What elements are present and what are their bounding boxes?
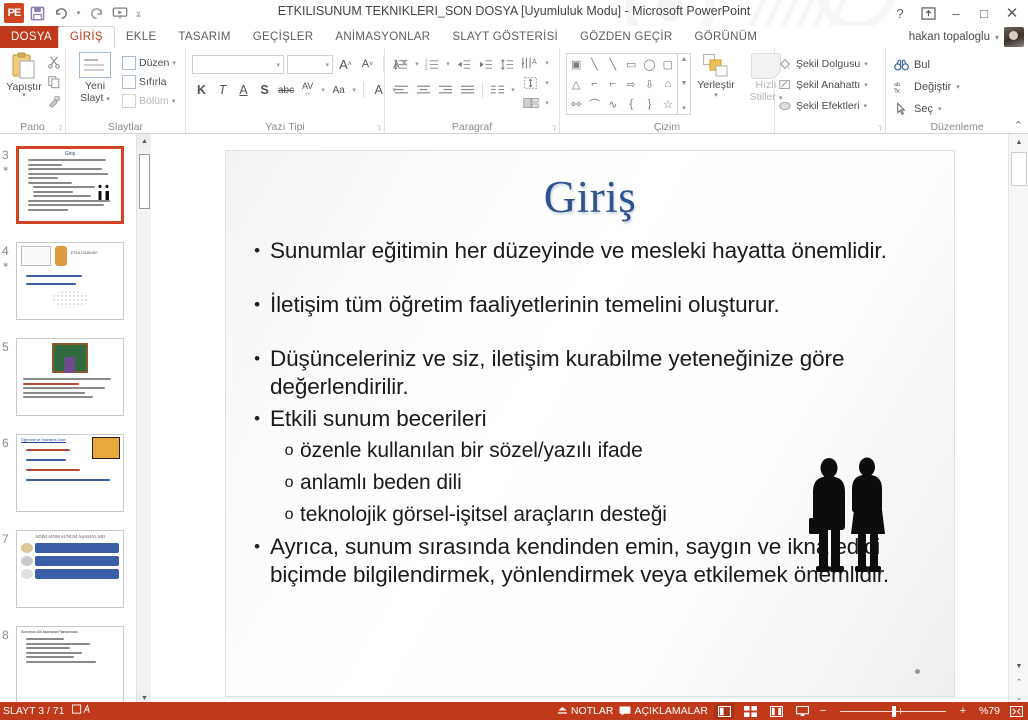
justify-button[interactable] <box>457 80 478 100</box>
slides-buttons: Düzen ▾ Sıfırla Bölüm ▾ <box>122 53 184 110</box>
new-slide-label-1: Yeni <box>85 80 105 92</box>
thumbnail-frame[interactable]: ADIM ADIM SUNUM AŞAMALARI <box>16 530 124 608</box>
shrink-font-button[interactable]: A˅ <box>358 54 377 74</box>
tab-gorunum[interactable]: GÖRÜNÜM <box>683 26 768 48</box>
thumbnail-number: 3 <box>2 148 9 162</box>
character-spacing-label: AV <box>302 82 313 90</box>
text-direction-button[interactable]: A <box>519 53 543 73</box>
slide-decoration-dot <box>915 669 920 674</box>
pencil-outline-icon <box>778 78 792 92</box>
chevron-down-icon[interactable]: ▾ <box>864 60 868 68</box>
shape-elbow2-icon[interactable]: ⌐ <box>604 74 622 94</box>
shape-freeform-icon[interactable]: ⚯ <box>567 94 585 114</box>
tab-dosya[interactable]: DOSYA <box>0 26 63 48</box>
bullet-marker: • <box>244 533 270 589</box>
svg-text:ab: ab <box>894 82 900 88</box>
gallery-more-icon[interactable]: ▾ <box>682 102 686 114</box>
thumbnail-frame[interactable]: Sunumun Altı Aşamada Planlanması <box>16 626 124 704</box>
zoom-slider[interactable] <box>834 704 952 718</box>
pointer-icon <box>894 102 909 116</box>
start-slideshow-icon[interactable] <box>109 2 131 24</box>
language-icon[interactable] <box>72 704 92 718</box>
shape-format-buttons: Şekil Dolgusu ▾ Şekil Anahattı ▾ Şekil E… <box>778 53 882 116</box>
font-dialog-launcher[interactable]: ⁊ <box>377 123 381 132</box>
font-row-top: ▾ ▾ A˄ A˅ A <box>192 54 411 74</box>
window-controls[interactable]: ? – □ ✕ <box>886 0 1026 26</box>
tab-list: GİRİŞ EKLE TASARIM GEÇİŞLER ANİMASYONLAR… <box>58 26 768 48</box>
spacer <box>244 269 928 291</box>
align-text-button[interactable] <box>519 73 543 93</box>
paste-button[interactable]: Yapıştır ▾ <box>4 52 44 114</box>
quick-styles-label-1: Hızlı <box>755 79 776 91</box>
scroll-down-icon[interactable]: ▼ <box>1009 658 1028 674</box>
fit-slide-to-window-button[interactable] <box>1006 703 1026 719</box>
powerpoint-logo-icon: PE <box>4 3 24 23</box>
ribbon-group-drawing: ▣ ╲ ╲ ▭ ◯ ▢ △ ⌐ ⌐ ⇨ ⇩ ⌂ ⚯ ⌒ ∿ { } ☆ ▲ <box>560 48 775 134</box>
bullet-marker: • <box>244 405 270 433</box>
shape-arrow-icon[interactable]: ╲ <box>604 54 622 74</box>
chevron-down-icon[interactable]: ▾ <box>172 97 176 105</box>
align-right-button[interactable] <box>435 80 456 100</box>
chevron-down-icon[interactable]: ▾ <box>956 83 960 91</box>
shape-effects-button[interactable]: Şekil Efektleri ▾ <box>778 95 882 116</box>
chevron-down-icon[interactable]: ▾ <box>543 79 551 87</box>
section-icon <box>122 94 136 108</box>
scrollbar-thumb[interactable] <box>1011 152 1027 186</box>
quick-access-toolbar[interactable]: PE ▾ ⩣ <box>4 2 144 24</box>
select-button[interactable]: Seç ▾ <box>894 98 1014 120</box>
decrease-indent-button[interactable] <box>453 54 474 74</box>
chevron-down-icon[interactable]: ▾ <box>938 105 942 113</box>
ribbon-group-slides: Yeni Slayt ▾ Düzen ▾ Sıfırla Bölüm <box>66 48 186 134</box>
close-button[interactable]: ✕ <box>998 2 1026 24</box>
svg-text:ac: ac <box>895 89 901 94</box>
thumbnail-title: ETKİLİ SUNUM? <box>71 251 97 255</box>
shape-rectangle-icon[interactable]: ▭ <box>622 54 640 74</box>
bold-button[interactable]: K <box>192 80 211 100</box>
scrollbar-thumb[interactable] <box>139 154 150 209</box>
thumbnail-number: 5 <box>2 340 9 354</box>
bullet-marker: o <box>278 501 300 529</box>
chevron-down-icon[interactable]: ▾ <box>864 102 868 110</box>
gallery-scroll-up-icon[interactable]: ▲ <box>681 54 688 65</box>
slide-thumbnail-pane[interactable]: 3 ✶ Giriş <box>0 134 136 706</box>
redo-icon[interactable] <box>85 2 107 24</box>
clipboard-dialog-launcher[interactable]: ⁊ <box>58 123 62 132</box>
bullet-text: Düşünceleriniz ve siz, iletişim kurabilm… <box>270 345 928 401</box>
powerpoint-window: PE ▾ ⩣ ETKILISUNUM TEKNIKLERI_SON DOSYA … <box>0 0 1028 720</box>
chevron-down-icon[interactable]: ▾ <box>864 81 868 89</box>
clipboard-icon <box>11 52 37 80</box>
shape-right-arrow-icon[interactable]: ⇨ <box>622 74 640 94</box>
shape-arc-icon[interactable]: ∿ <box>604 94 622 114</box>
bullet-text: Sunumlar eğitimin her düzeyinde ve mesle… <box>270 237 887 265</box>
comments-label: AÇIKLAMALAR <box>634 705 708 717</box>
chevron-down-icon[interactable]: ▾ <box>543 99 551 107</box>
smartart-button[interactable] <box>519 93 543 113</box>
shape-right-brace-icon[interactable]: } <box>640 94 658 114</box>
thumbnail-frame[interactable]: Giriş <box>16 146 124 224</box>
thumbnail-frame[interactable]: Öğrenme ve Hatırlama Oranı <box>16 434 124 512</box>
chevron-down-icon[interactable]: ▾ <box>106 96 110 103</box>
chevron-down-icon[interactable]: ▾ <box>413 60 421 68</box>
group-label-slides: Slaytlar <box>66 121 185 133</box>
shape-oval-icon[interactable]: ◯ <box>640 54 658 74</box>
shape-rounded-rect-icon[interactable]: ▢ <box>659 54 677 74</box>
thumbnail-content: Öğrenme ve Hatırlama Oranı <box>17 435 123 511</box>
shape-textbox-icon[interactable]: ▣ <box>567 54 585 74</box>
paragraph-right-buttons: A ▾ ▾ ▾ <box>519 53 553 113</box>
bullets-button[interactable] <box>391 54 412 74</box>
shapes-gallery[interactable]: ▣ ╲ ╲ ▭ ◯ ▢ △ ⌐ ⌐ ⇨ ⇩ ⌂ ⚯ ⌒ ∿ { } ☆ <box>566 53 678 115</box>
thumbnail-number: 7 <box>2 532 9 546</box>
layout-button[interactable]: Düzen ▾ <box>122 53 184 72</box>
svg-text:3: 3 <box>425 66 428 71</box>
bullet-item[interactable]: • İletişim tüm öğretim faaliyetlerinin t… <box>244 291 928 319</box>
undo-icon[interactable] <box>50 2 72 24</box>
zoom-tick <box>900 708 901 714</box>
chevron-down-icon[interactable]: ▾ <box>22 93 26 99</box>
chevron-down-icon[interactable]: ▾ <box>350 86 358 94</box>
tab-tasarim[interactable]: TASARIM <box>167 26 241 48</box>
format-painter-button[interactable] <box>44 92 64 112</box>
group-label-paragraph: Paragraf <box>385 121 559 133</box>
section-button[interactable]: Bölüm ▾ <box>122 91 184 110</box>
thumbnail-title: ADIM ADIM SUNUM AŞAMALARI <box>21 534 119 540</box>
find-button[interactable]: Bul <box>894 54 1014 76</box>
paragraph-row-top: ▾ 123 ▾ ▾ <box>391 54 527 74</box>
bullet-item[interactable]: • Etkili sunum becerileri <box>244 405 928 433</box>
shape-curve-icon[interactable]: ⌒ <box>585 94 603 114</box>
chevron-down-icon[interactable]: ▾ <box>172 59 176 67</box>
spacer <box>244 323 928 345</box>
thumbnail-number: 4 <box>2 244 9 258</box>
ribbon-group-clipboard: Yapıştır ▾ Pano ⁊ <box>0 48 66 134</box>
font-row-bottom: K T A S abc AV↔ ▾ Aa ▾ A ▾ <box>192 80 398 100</box>
thumbnail-title: Sunumun Altı Aşamada Planlanması <box>21 630 119 634</box>
avatar[interactable] <box>1004 27 1024 47</box>
group-label-editing: Düzenleme <box>886 121 1028 133</box>
text-shadow-button[interactable]: S <box>255 80 274 100</box>
clipboard-small-buttons <box>44 52 64 112</box>
increase-indent-button[interactable] <box>475 54 496 74</box>
thumbnail-content <box>17 339 123 415</box>
align-left-button[interactable] <box>391 80 412 100</box>
ribbon: Yapıştır ▾ Pano ⁊ Yen <box>0 48 1028 134</box>
copy-button[interactable] <box>44 72 64 92</box>
save-icon[interactable] <box>26 2 48 24</box>
replace-label: Değiştir <box>914 81 951 93</box>
shape-fill-label: Şekil Dolgusu <box>796 58 860 70</box>
zoom-in-button[interactable]: + <box>958 705 968 717</box>
tab-giris[interactable]: GİRİŞ <box>58 26 115 48</box>
quick-styles-label-2: Stiller <box>750 91 776 103</box>
bullet-marker: • <box>244 291 270 319</box>
title-bar: PE ▾ ⩣ ETKILISUNUM TEKNIKLERI_SON DOSYA … <box>0 0 1028 26</box>
divider <box>363 82 364 98</box>
chevron-down-icon[interactable]: ▾ <box>543 59 551 67</box>
account-area[interactable]: hakan topaloglu ▾ <box>909 27 1024 47</box>
svg-text:A: A <box>532 57 537 66</box>
zoom-out-button[interactable]: − <box>818 705 828 717</box>
shape-outline-button[interactable]: Şekil Anahattı ▾ <box>778 74 882 95</box>
animation-star-icon: ✶ <box>2 260 10 271</box>
notes-label: NOTLAR <box>571 705 614 717</box>
bullet-marker: • <box>244 345 270 401</box>
divider <box>383 56 384 72</box>
bullet-marker: o <box>278 469 300 497</box>
replace-icon: abac <box>894 80 909 94</box>
layout-icon <box>122 56 136 70</box>
shape-line-icon[interactable]: ╲ <box>585 54 603 74</box>
bullet-item[interactable]: • Düşünceleriniz ve siz, iletişim kurabi… <box>244 345 928 401</box>
shape-fill-button[interactable]: Şekil Dolgusu ▾ <box>778 53 882 74</box>
thumbnail-title: Giriş <box>23 152 117 156</box>
bullet-text: özenle kullanılan bir sözel/yazılı ifade <box>300 437 643 465</box>
reset-button[interactable]: Sıfırla <box>122 72 184 91</box>
comments-button[interactable]: AÇIKLAMALAR <box>619 705 708 717</box>
shapes-gallery-scrollbar[interactable]: ▲ ▼ ▾ <box>678 53 691 115</box>
strikethrough-button[interactable]: abc <box>276 80 296 100</box>
divider <box>482 82 483 98</box>
chevron-down-icon[interactable]: ▾ <box>444 60 452 68</box>
shape-elbow-icon[interactable]: ⌐ <box>585 74 603 94</box>
thumbnail-frame[interactable]: ETKİLİ SUNUM? <box>16 242 124 320</box>
bullet-item[interactable]: • Sunumlar eğitimin her düzeyinde ve mes… <box>244 237 928 265</box>
maximize-button[interactable]: □ <box>970 2 998 24</box>
align-center-button[interactable] <box>413 80 434 100</box>
grow-font-button[interactable]: A˄ <box>336 54 355 74</box>
fill-bucket-icon <box>778 57 792 71</box>
ribbon-group-font: ▾ ▾ A˄ A˅ A K T A S abc AV↔ ▾ Aa <box>186 48 385 134</box>
group-label-font: Yazı Tipi <box>186 121 384 133</box>
thumbnail-number: 6 <box>2 436 9 450</box>
ribbon-display-options-button[interactable] <box>914 2 942 24</box>
normal-view-button[interactable] <box>714 703 734 719</box>
shape-triangle-icon[interactable]: △ <box>567 74 585 94</box>
paragraph-row-bottom: ▾ <box>391 80 517 100</box>
chevron-down-icon[interactable]: ▾ <box>509 86 517 94</box>
section-label: Bölüm <box>139 95 169 107</box>
arrange-label: Yerleştir <box>697 79 735 91</box>
previous-slide-button[interactable]: ⌃ <box>1009 674 1028 690</box>
underline-button[interactable]: A <box>234 80 253 100</box>
two-people-silhouette-image <box>97 183 113 205</box>
shape-star-icon[interactable]: ☆ <box>659 94 677 114</box>
thumbnail-frame[interactable] <box>16 338 124 416</box>
tab-ekle[interactable]: EKLE <box>115 26 168 48</box>
zoom-handle[interactable] <box>892 706 896 717</box>
animation-star-icon: ✶ <box>2 164 10 175</box>
new-slide-label-2: Slayt <box>80 92 103 104</box>
minimize-button[interactable]: – <box>942 2 970 24</box>
effects-icon <box>778 99 792 113</box>
shape-down-arrow-icon[interactable]: ⇩ <box>640 74 658 94</box>
thumbnail-number: 8 <box>2 628 9 642</box>
change-case-button[interactable]: Aa <box>329 80 348 100</box>
thumbnail-content: ADIM ADIM SUNUM AŞAMALARI <box>17 531 123 607</box>
arrange-button[interactable]: Yerleştir ▾ <box>694 53 738 99</box>
slide-title[interactable]: Giriş <box>226 171 954 223</box>
scrollbar-bottom-buttons[interactable]: ▼ ⌃ ⌄ <box>1009 658 1028 706</box>
chevron-down-icon[interactable]: ▾ <box>319 86 327 94</box>
undo-dropdown-icon[interactable]: ▾ <box>74 2 83 24</box>
arrange-icon <box>702 53 730 79</box>
character-spacing-button[interactable]: AV↔ <box>298 80 317 100</box>
zoom-value[interactable]: %79 <box>974 705 1000 717</box>
font-name-input[interactable]: ▾ <box>192 55 284 74</box>
binoculars-icon <box>894 58 909 72</box>
bullet-text: teknolojik görsel-işitsel araçların dest… <box>300 501 667 529</box>
bullet-marker: o <box>278 437 300 465</box>
reading-view-button[interactable] <box>766 703 786 719</box>
line-spacing-button[interactable] <box>497 54 518 74</box>
bullet-marker: • <box>244 237 270 265</box>
chevron-down-icon[interactable]: ▾ <box>995 33 999 42</box>
shape-effects-label: Şekil Efektleri <box>796 100 860 112</box>
help-button[interactable]: ? <box>886 2 914 24</box>
replace-button[interactable]: abac Değiştir ▾ <box>894 76 1014 98</box>
bullet-text: Etkili sunum becerileri <box>270 405 487 433</box>
bullet-text: anlamlı beden dili <box>300 469 462 497</box>
logo-text: PE <box>8 7 21 19</box>
new-slide-button[interactable]: Yeni Slayt ▾ <box>72 52 118 106</box>
paragraph-dialog-launcher[interactable]: ⁊ <box>552 123 556 132</box>
tab-gozden-gecir[interactable]: GÖZDEN GEÇİR <box>569 26 683 48</box>
comment-icon <box>619 706 631 716</box>
new-slide-icon <box>79 52 111 78</box>
shape-pentagon-icon[interactable]: ⌂ <box>659 74 677 94</box>
font-size-input[interactable]: ▾ <box>287 55 333 74</box>
numbering-button[interactable]: 123 <box>422 54 443 74</box>
ribbon-group-editing: Bul abac Değiştir ▾ Seç ▾ Düzenleme ⌃ <box>886 48 1028 134</box>
title-bar-decoration <box>588 0 908 26</box>
chevron-down-icon[interactable]: ▾ <box>714 91 718 99</box>
thumbnail-scrollbar[interactable]: ▲ ▼ <box>136 134 151 706</box>
window-title: ETKILISUNUM TEKNIKLERI_SON DOSYA [Uyumlu… <box>0 4 1028 18</box>
shape-outline-label: Şekil Anahattı <box>796 79 860 91</box>
status-bar: SLAYT 3 / 71 NOTLAR AÇIKLAMALAR <box>0 702 1028 720</box>
two-people-silhouette-image[interactable] <box>808 456 890 581</box>
ribbon-group-paragraph: ▾ 123 ▾ ▾ <box>385 48 560 134</box>
shape-left-brace-icon[interactable]: { <box>622 94 640 114</box>
ribbon-group-shape-format: Şekil Dolgusu ▾ Şekil Anahattı ▾ Şekil E… <box>775 48 886 134</box>
find-label: Bul <box>914 59 930 71</box>
italic-button[interactable]: T <box>213 80 232 100</box>
ribbon-tabs: DOSYA GİRİŞ EKLE TASARIM GEÇİŞLER ANİMAS… <box>0 26 1028 48</box>
select-label: Seç <box>914 103 933 115</box>
reset-icon <box>122 75 136 89</box>
scroll-up-icon[interactable]: ▲ <box>1009 134 1028 150</box>
slide-area-scrollbar[interactable]: ▲ ▼ ⌃ ⌄ <box>1008 134 1028 706</box>
group-label-clipboard: Pano <box>0 121 65 133</box>
thumbnail-content: Sunumun Altı Aşamada Planlanması <box>17 627 123 703</box>
status-right: NOTLAR AÇIKLAMALAR − <box>557 703 1026 719</box>
scroll-up-icon[interactable]: ▲ <box>137 134 152 149</box>
cut-button[interactable] <box>44 52 64 72</box>
group-label-drawing: Çizim <box>560 121 774 133</box>
notes-button[interactable]: NOTLAR <box>557 705 614 717</box>
collapse-ribbon-button[interactable]: ⌃ <box>1014 119 1023 132</box>
slideshow-button[interactable] <box>792 703 812 719</box>
customize-qat-icon[interactable]: ⩣ <box>133 2 144 24</box>
account-name: hakan topaloglu <box>909 31 990 43</box>
gallery-scroll-down-icon[interactable]: ▼ <box>681 78 688 89</box>
slide-counter[interactable]: SLAYT 3 / 71 <box>3 705 64 717</box>
status-left: SLAYT 3 / 71 <box>0 704 92 718</box>
current-slide[interactable]: Giriş • Sunumlar eğitimin her düzeyinde … <box>225 150 955 697</box>
layout-label: Düzen <box>139 57 169 69</box>
reset-label: Sıfırla <box>139 76 166 88</box>
notes-icon <box>557 706 568 716</box>
drawing-dialog-launcher[interactable]: ⁊ <box>878 123 882 132</box>
bullet-text: İletişim tüm öğretim faaliyetlerinin tem… <box>270 291 780 319</box>
tab-gecisler[interactable]: GEÇİŞLER <box>242 26 325 48</box>
slide-sorter-button[interactable] <box>740 703 760 719</box>
tab-slayt-gosterisi[interactable]: SLAYT GÖSTERİSİ <box>441 26 569 48</box>
tab-animasyonlar[interactable]: ANİMASYONLAR <box>324 26 441 48</box>
thumbnail-content: ETKİLİ SUNUM? <box>17 243 123 319</box>
columns-button[interactable] <box>487 80 508 100</box>
slide-editing-area[interactable]: Giriş • Sunumlar eğitimin her düzeyinde … <box>151 134 1008 706</box>
